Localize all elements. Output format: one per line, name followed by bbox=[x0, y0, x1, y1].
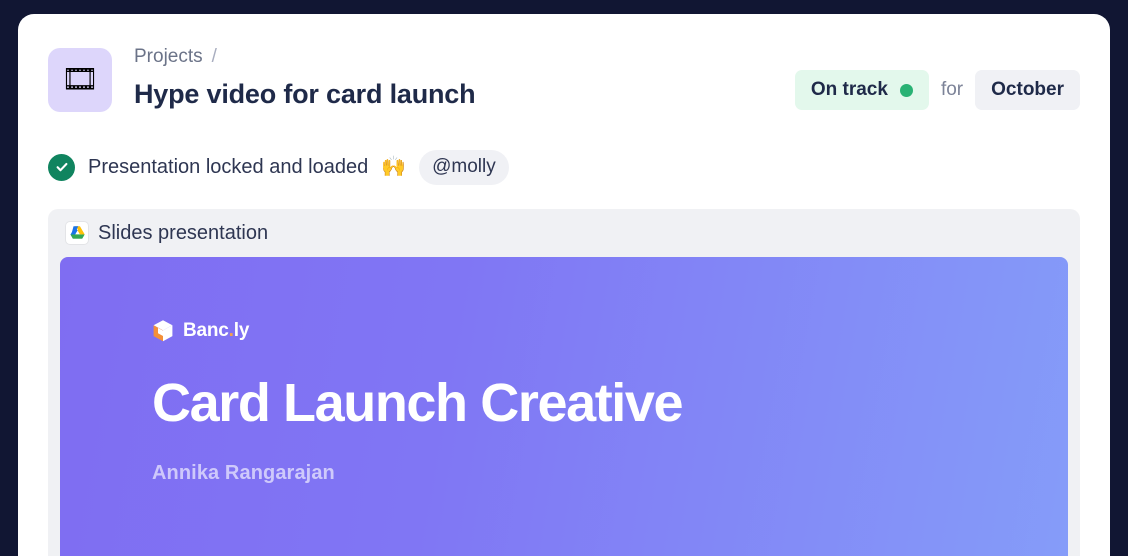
slide-brand-logo: Banc.ly bbox=[152, 319, 249, 343]
breadcrumb-separator: / bbox=[212, 46, 217, 69]
status-dot-icon bbox=[900, 84, 913, 97]
check-circle-icon bbox=[48, 154, 75, 181]
task-detail-card: 🎞 Projects / Hype video for card launch … bbox=[18, 14, 1110, 556]
slide-title: Card Launch Creative bbox=[152, 374, 682, 433]
attachment-panel: Slides presentation Banc.ly Card Launch … bbox=[48, 209, 1080, 556]
google-drive-icon bbox=[66, 222, 88, 244]
breadcrumb-item-projects[interactable]: Projects bbox=[134, 46, 203, 69]
breadcrumb: Projects / bbox=[134, 46, 795, 69]
attachment-name: Slides presentation bbox=[98, 221, 268, 245]
app-root: 🎞 Projects / Hype video for card launch … bbox=[0, 0, 1128, 556]
status-update-row: Presentation locked and loaded 🙌 @molly bbox=[18, 112, 1110, 185]
raising-hands-icon: 🙌 bbox=[381, 157, 406, 177]
card-header: 🎞 Projects / Hype video for card launch … bbox=[18, 14, 1110, 112]
status-connector-label: for bbox=[941, 79, 963, 101]
film-frames-icon: 🎞 bbox=[61, 65, 99, 95]
slide-brand-name: Banc.ly bbox=[183, 320, 249, 342]
slide-preview[interactable]: Banc.ly Card Launch Creative Annika Rang… bbox=[60, 257, 1068, 556]
bancly-cube-icon bbox=[152, 319, 174, 343]
period-chip-label: October bbox=[991, 79, 1064, 100]
attachment-header[interactable]: Slides presentation bbox=[48, 221, 1080, 257]
brand-text-a: Banc bbox=[183, 320, 229, 341]
status-badge-label: On track bbox=[811, 79, 888, 101]
brand-text-b: ly bbox=[234, 320, 249, 341]
slide-author: Annika Rangarajan bbox=[152, 462, 335, 485]
title-block: Projects / Hype video for card launch bbox=[134, 44, 795, 110]
status-badge[interactable]: On track bbox=[795, 70, 929, 110]
project-icon-tile[interactable]: 🎞 bbox=[48, 48, 112, 112]
status-cluster: On track for October bbox=[795, 70, 1080, 110]
page-title: Hype video for card launch bbox=[134, 78, 795, 110]
mention-chip-molly[interactable]: @molly bbox=[419, 150, 509, 185]
status-update-text: Presentation locked and loaded bbox=[88, 155, 368, 179]
period-chip[interactable]: October bbox=[975, 70, 1080, 110]
